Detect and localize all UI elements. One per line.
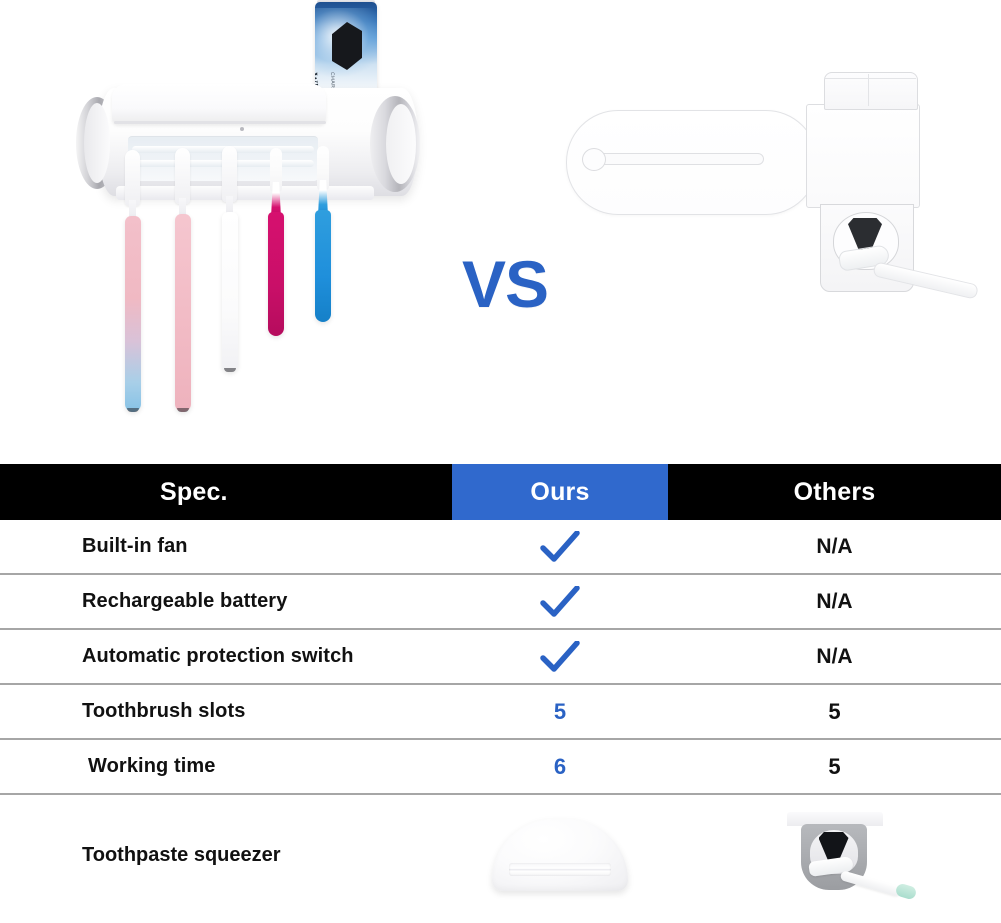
row-cell-ours	[452, 520, 668, 573]
spec-label: Built-in fan	[82, 535, 188, 558]
spec-label: Working time	[88, 755, 216, 778]
vs-label: VS	[462, 246, 548, 322]
header-cell-ours: Ours	[452, 464, 668, 520]
dispenser-icon-brush-tip	[894, 882, 917, 900]
spec-label: Rechargeable battery	[82, 590, 287, 613]
row-cell-spec: Automatic protection switch	[0, 630, 452, 683]
row-cell-ours	[452, 795, 668, 915]
toothbrush-handle-3	[222, 212, 238, 372]
header-label-ours: Ours	[530, 478, 589, 507]
toothbrush-head-3	[222, 146, 237, 202]
squeezer-dome	[492, 819, 628, 891]
toothpaste-squeezer-icon	[492, 819, 628, 891]
spec-comparison-table: Spec. Ours Others Built-in fan N/A Recha…	[0, 464, 1001, 915]
spec-label: Automatic protection switch	[82, 645, 354, 668]
row-cell-others: N/A	[668, 630, 1001, 683]
sanitizer-indicator-dot	[240, 127, 244, 131]
row-cell-others	[668, 795, 1001, 915]
row-cell-spec: Built-in fan	[0, 520, 452, 573]
row-cell-spec: Toothpaste squeezer	[0, 795, 452, 915]
spec-label: Toothbrush slots	[82, 700, 245, 723]
others-value: N/A	[816, 535, 852, 559]
row-cell-others: N/A	[668, 520, 1001, 573]
toothbrush-handle-4	[268, 212, 284, 336]
row-cell-others: 5	[668, 685, 1001, 738]
toothbrush-handle-5	[315, 210, 331, 322]
table-row: Automatic protection switch N/A	[0, 630, 1001, 685]
sanitizer-lid	[112, 84, 326, 124]
row-cell-spec: Toothbrush slots	[0, 685, 452, 738]
row-cell-ours	[452, 630, 668, 683]
toothbrush-handle-1	[125, 216, 141, 412]
checkmark-icon	[540, 586, 580, 618]
others-value: 5	[828, 699, 840, 725]
row-cell-spec: Rechargeable battery	[0, 575, 452, 628]
others-value: N/A	[816, 645, 852, 669]
header-label-spec: Spec.	[160, 478, 228, 507]
header-cell-others: Others	[668, 464, 1001, 520]
row-cell-ours	[452, 575, 668, 628]
others-value: 5	[828, 754, 840, 780]
dispenser-cap-divider	[868, 74, 869, 106]
row-cell-ours: 5	[452, 685, 668, 738]
others-product-illustration	[548, 58, 988, 358]
checkmark-icon	[540, 641, 580, 673]
table-row: Built-in fan N/A	[0, 520, 1001, 575]
toothbrush-rack-bar	[116, 186, 374, 200]
ours-product-photo: White Glo CHARCOAL SERIES	[70, 0, 450, 455]
table-row: Toothbrush slots 5 5	[0, 685, 1001, 740]
sanitizer-right-endcap-inner	[386, 104, 416, 184]
table-row-image: Toothpaste squeezer	[0, 795, 1001, 915]
checkmark-icon	[540, 531, 580, 563]
dispenser-body	[806, 104, 920, 208]
header-cell-spec: Spec.	[0, 464, 452, 520]
toothpaste-dispenser-icon	[779, 812, 891, 898]
ours-value: 5	[554, 699, 566, 725]
toothbrush-foot-1	[127, 408, 139, 412]
dispenser-cap-line	[824, 78, 916, 79]
table-row: Rechargeable battery N/A	[0, 575, 1001, 630]
others-value: N/A	[816, 590, 852, 614]
row-cell-ours: 6	[452, 740, 668, 793]
header-label-others: Others	[794, 478, 876, 507]
row-cell-others: 5	[668, 740, 1001, 793]
toothbrush-head-1	[125, 150, 140, 206]
dispenser-arm-eyelet	[582, 148, 606, 171]
dispenser-arm-slot	[590, 153, 764, 165]
toothbrush-foot-3	[224, 368, 236, 372]
table-header-row: Spec. Ours Others	[0, 464, 1001, 520]
sanitizer-left-endcap-inner	[84, 103, 110, 183]
squeezer-slot	[509, 863, 611, 876]
spec-label: Toothpaste squeezer	[82, 844, 281, 867]
row-cell-spec: Working time	[0, 740, 452, 793]
ours-value: 6	[554, 754, 566, 780]
row-cell-others: N/A	[668, 575, 1001, 628]
table-row: Working time 6 5	[0, 740, 1001, 795]
toothbrush-head-2	[175, 148, 190, 204]
toothbrush-handle-2	[175, 214, 191, 412]
sanitizer-lid-seam	[114, 121, 326, 124]
toothbrush-foot-2	[177, 408, 189, 412]
product-comparison-hero: White Glo CHARCOAL SERIES	[0, 0, 1001, 464]
